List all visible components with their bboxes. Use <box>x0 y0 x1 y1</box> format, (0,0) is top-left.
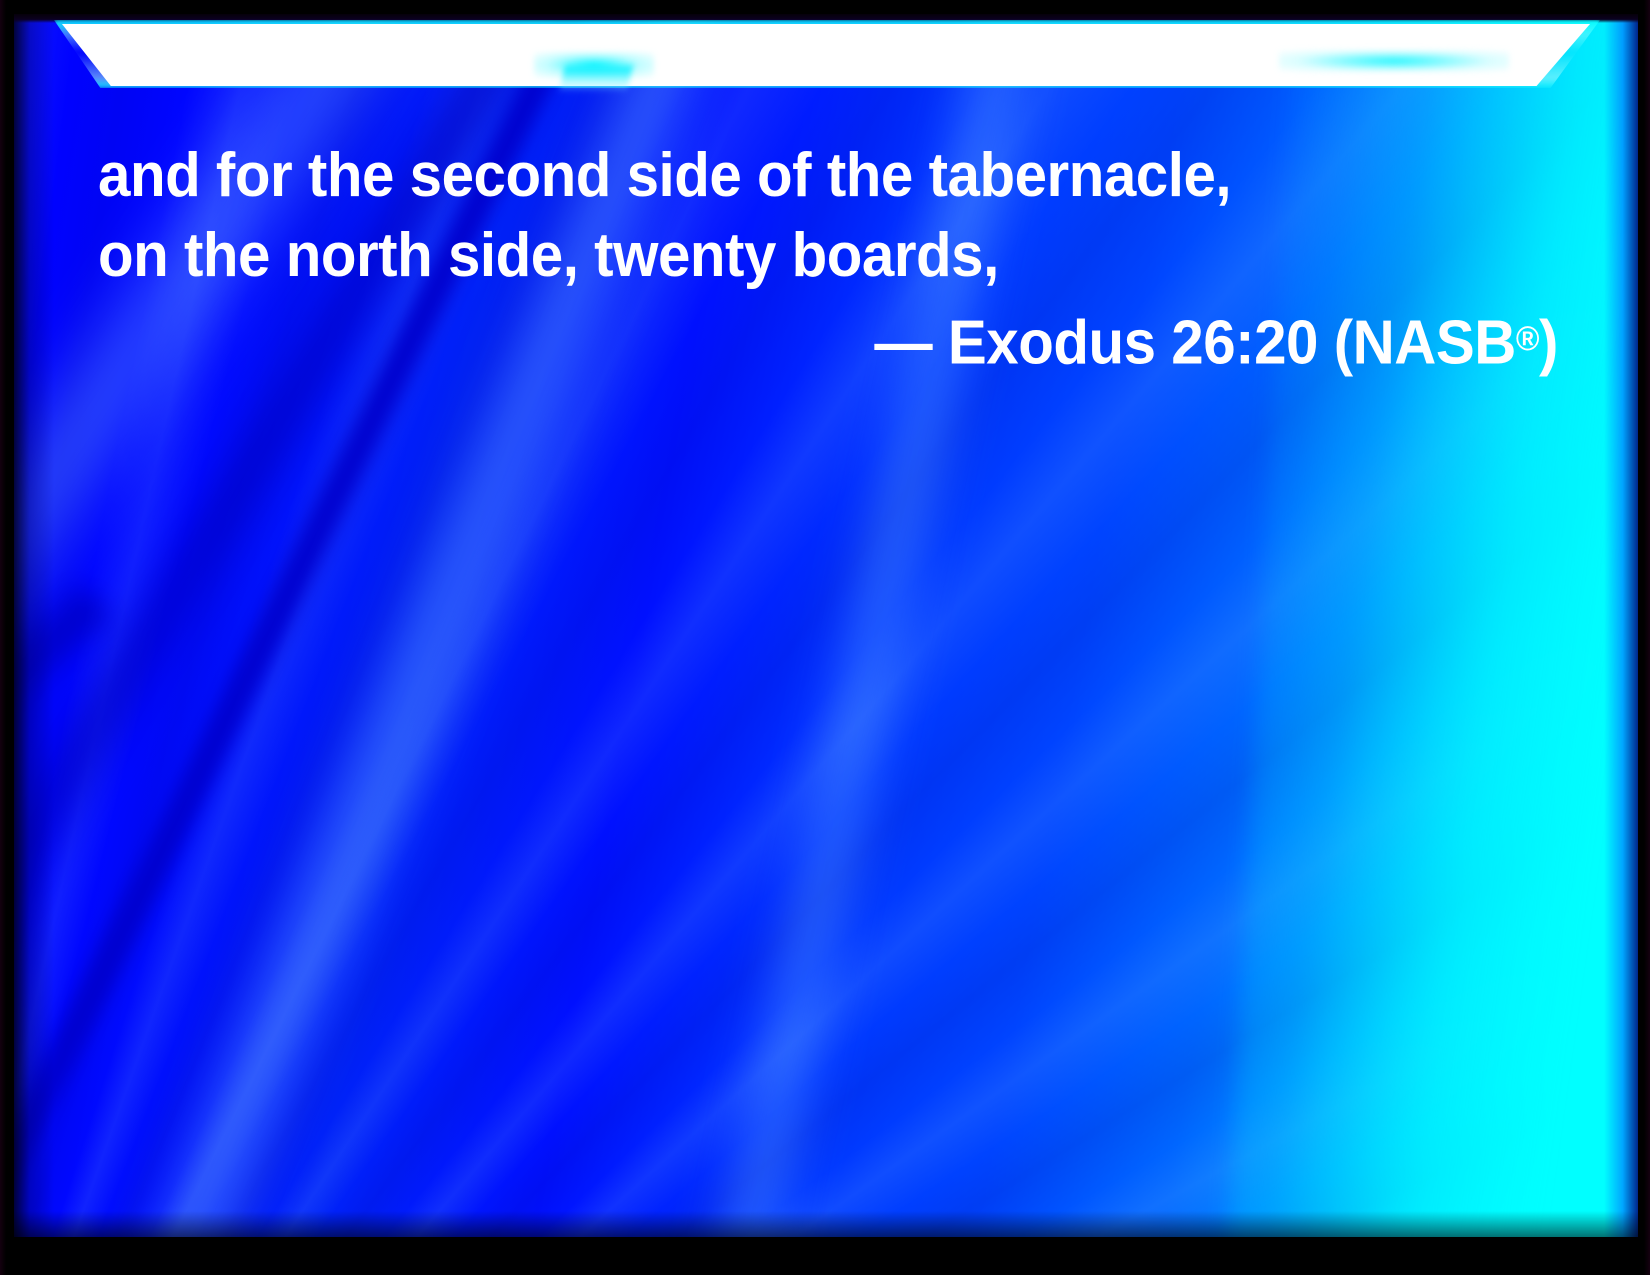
verse-line-1: and for the second side of the tabernacl… <box>98 136 1470 216</box>
verse-slide: and for the second side of the tabernacl… <box>0 0 1650 1275</box>
verse-line-2: on the north side, twenty boards, <box>98 216 1470 296</box>
attribution-book: Exodus <box>948 309 1156 378</box>
verse-attribution: — Exodus 26:20 (NASB®) <box>186 296 1558 387</box>
registered-trademark-icon: ® <box>1516 320 1539 358</box>
frame-border-top <box>0 0 1650 14</box>
verse-text-block: and for the second side of the tabernacl… <box>98 136 1558 387</box>
left-edge-shade <box>14 14 54 1237</box>
right-edge-shade <box>1604 14 1638 1237</box>
attribution-reference: 26:20 <box>1171 309 1318 378</box>
frame-border-left <box>0 0 14 1275</box>
attribution-dash: — <box>874 309 932 378</box>
bottom-edge-shade <box>14 1211 1638 1237</box>
frame-border-right <box>1638 0 1650 1275</box>
attribution-close-paren: ) <box>1539 309 1558 378</box>
attribution-translation: (NASB <box>1334 309 1516 378</box>
frame-border-bottom <box>0 1237 1650 1275</box>
background-field: and for the second side of the tabernacl… <box>14 14 1638 1237</box>
